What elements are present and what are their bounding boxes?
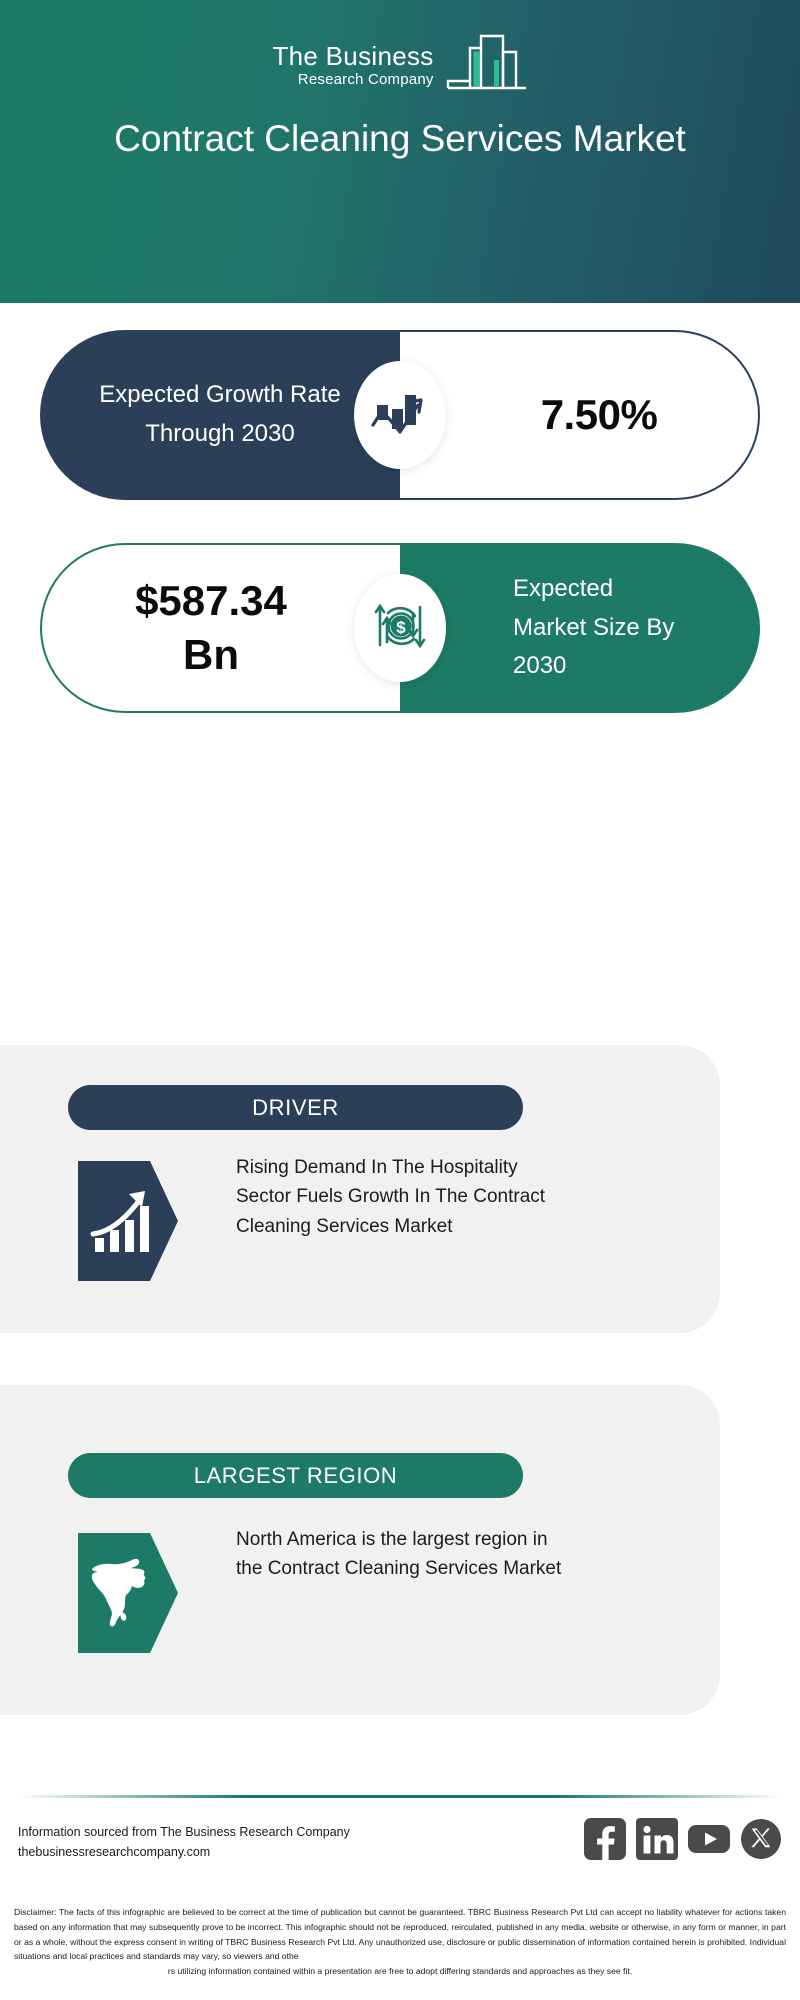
source-line-1: Information sourced from The Business Re… xyxy=(18,1822,448,1842)
market-size-value: $587.34 Bn xyxy=(106,574,336,682)
market-size-icon-badge: $ xyxy=(354,574,446,682)
disclaimer-last-line: rs utilizing information contained withi… xyxy=(14,1964,786,1979)
stat-card-expected-market-size: $587.34 Bn Expected Market Size By 2030 xyxy=(40,543,760,713)
facebook-icon[interactable] xyxy=(584,1818,626,1860)
driver-icon-hex xyxy=(78,1161,178,1281)
dollar-circular-arrows-icon: $ xyxy=(370,597,430,660)
panel-largest-region: LARGEST REGION North America is the larg… xyxy=(0,1385,720,1715)
market-size-label-panel: Expected Market Size By 2030 xyxy=(400,543,760,713)
x-twitter-icon[interactable] xyxy=(740,1818,782,1860)
logo-line-2: Research Company xyxy=(272,72,433,87)
footer-divider xyxy=(18,1795,782,1798)
driver-text: Rising Demand In The Hospitality Sector … xyxy=(236,1153,576,1241)
company-logo: The Business Research Company xyxy=(0,18,800,95)
market-size-label: Expected Market Size By 2030 xyxy=(475,570,685,687)
disclaimer-text: Disclaimer: The facts of this infographi… xyxy=(14,1905,786,1979)
social-links xyxy=(584,1818,782,1860)
growth-value-panel: 7.50% xyxy=(400,330,760,500)
source-info: Information sourced from The Business Re… xyxy=(18,1822,448,1863)
north-america-map-icon xyxy=(94,1551,162,1636)
disclaimer-body: Disclaimer: The facts of this infographi… xyxy=(14,1907,786,1961)
largest-region-icon-hex xyxy=(78,1533,178,1653)
logo-text-block: The Business Research Company xyxy=(272,43,433,95)
growth-label-panel: Expected Growth Rate Through 2030 xyxy=(40,330,400,500)
header-banner: The Business Research Company Contr xyxy=(0,0,800,303)
linkedin-icon[interactable] xyxy=(636,1818,678,1860)
bar-chart-arrow-up-icon xyxy=(371,387,429,444)
stat-card-expected-growth-rate: Expected Growth Rate Through 2030 7.50% xyxy=(40,330,760,500)
infographic-page: The Business Research Company Contr xyxy=(0,0,800,2000)
driver-pill-label: DRIVER xyxy=(252,1095,339,1121)
youtube-icon[interactable] xyxy=(688,1818,730,1860)
growth-label: Expected Growth Rate Through 2030 xyxy=(95,376,345,454)
page-title: Contract Cleaning Services Market xyxy=(60,115,740,164)
largest-region-text: North America is the largest region in t… xyxy=(236,1525,566,1584)
logo-line-1: The Business xyxy=(272,43,433,69)
growth-bar-chart-icon xyxy=(95,1182,161,1261)
largest-region-pill: LARGEST REGION xyxy=(68,1453,523,1498)
growth-icon-badge xyxy=(354,361,446,469)
growth-value: 7.50% xyxy=(501,391,658,439)
source-line-2[interactable]: thebusinessresearchcompany.com xyxy=(18,1842,448,1862)
market-size-value-panel: $587.34 Bn xyxy=(40,543,400,713)
panel-driver: DRIVER Rising Demand In The Hospitality … xyxy=(0,1045,720,1333)
driver-pill: DRIVER xyxy=(68,1085,523,1130)
bar-chart-logo-mark-icon xyxy=(436,18,528,95)
largest-region-pill-label: LARGEST REGION xyxy=(194,1463,398,1489)
svg-text:$: $ xyxy=(396,618,406,637)
